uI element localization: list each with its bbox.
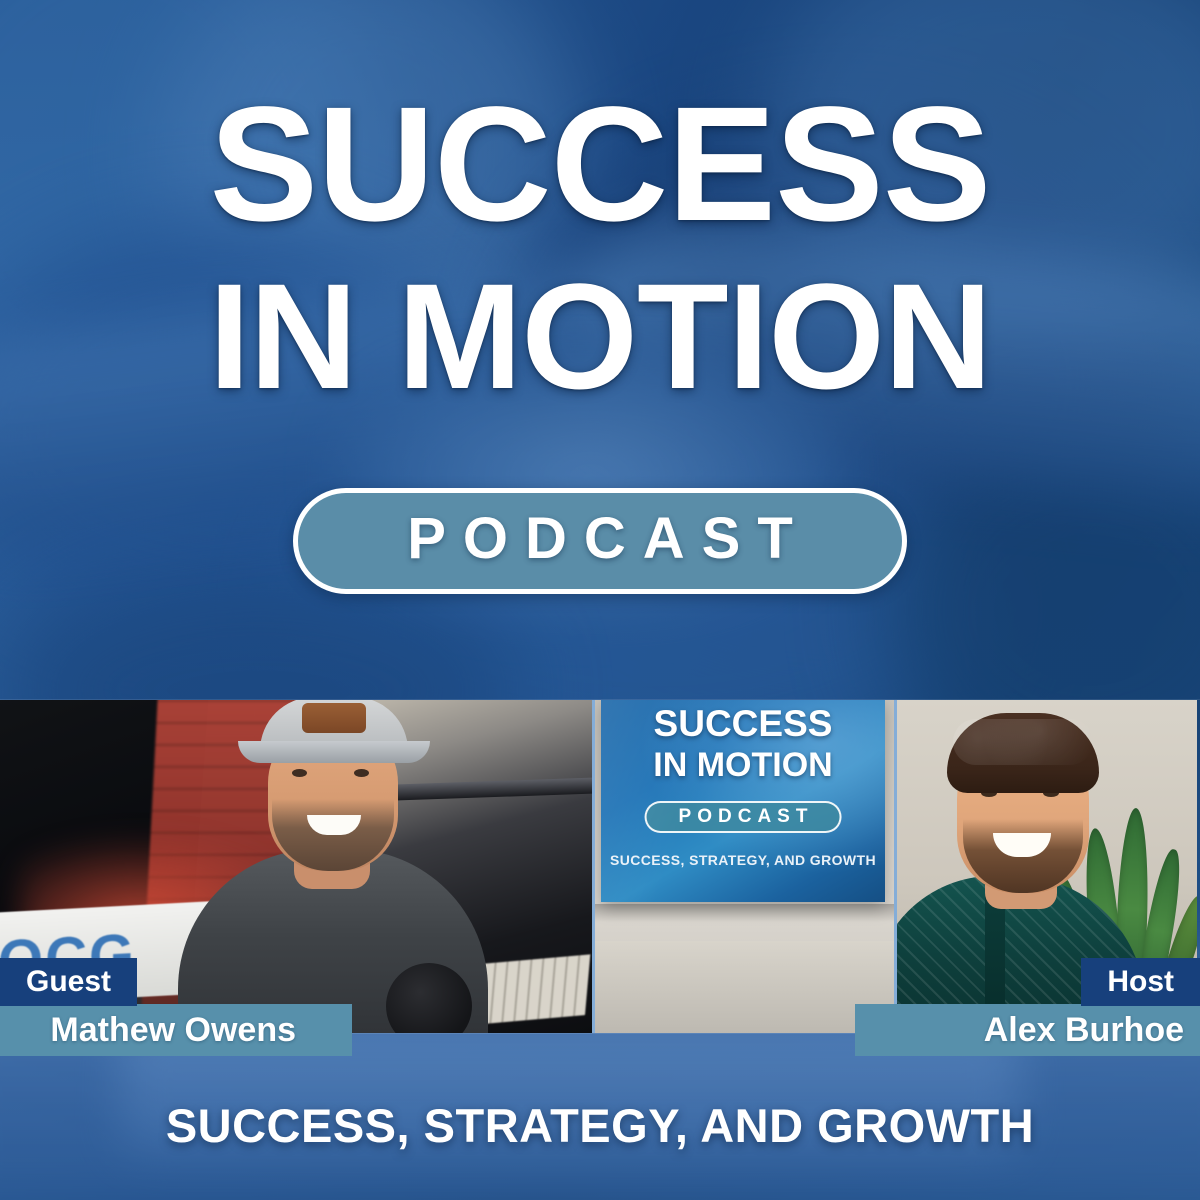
guest-eye-left (292, 769, 307, 777)
host-name-bar: Alex Burhoe (855, 1004, 1200, 1056)
host-role-tag: Host (1081, 958, 1200, 1006)
guest-cap-patch (302, 703, 366, 733)
wall-poster-title-success: SUCCESS (601, 705, 885, 742)
guest-role-tag: Guest (0, 958, 137, 1006)
cover-title: SUCCESS IN MOTION (0, 86, 1200, 408)
guest-eye-right (354, 769, 369, 777)
wall-poster-tagline: SUCCESS, STRATEGY, AND GROWTH (601, 852, 885, 868)
center-poster-panel: SUCCESS IN MOTION PODCAST SUCCESS, STRAT… (592, 700, 894, 1033)
guest-person (168, 739, 498, 1033)
host-hair (947, 713, 1099, 793)
wall-poster-title-in-motion: IN MOTION (601, 748, 885, 782)
podcast-badge: PODCAST (293, 488, 907, 594)
host-name-label: Alex Burhoe (984, 1013, 1184, 1047)
cover-tagline: SUCCESS, STRATEGY, AND GROWTH (0, 1098, 1200, 1153)
wall-poster-badge-label: PODCAST (673, 807, 814, 826)
guest-name-bar: Mathew Owens (0, 1004, 352, 1056)
video-panel-strip: OCG (0, 700, 1200, 1033)
wall-poster-badge: PODCAST (645, 801, 842, 833)
podcast-badge-wrapper: PODCAST (0, 488, 1200, 594)
title-line-success: SUCCESS (0, 86, 1200, 242)
guest-role-label: Guest (26, 967, 111, 997)
center-desk (595, 941, 894, 1033)
guest-cap-brim (238, 741, 430, 763)
cover-tagline-text: SUCCESS, STRATEGY, AND GROWTH (166, 1099, 1034, 1152)
host-role-label: Host (1107, 967, 1174, 997)
title-line-in-motion: IN MOTION (0, 264, 1200, 408)
guest-name-label: Mathew Owens (50, 1013, 296, 1047)
wall-poster: SUCCESS IN MOTION PODCAST SUCCESS, STRAT… (601, 700, 885, 902)
podcast-cover-art: SUCCESS IN MOTION PODCAST OCG (0, 0, 1200, 1200)
wall-poster-shadow (595, 904, 894, 922)
podcast-badge-label: PODCAST (390, 510, 810, 568)
center-scene: SUCCESS IN MOTION PODCAST SUCCESS, STRAT… (595, 700, 894, 1033)
